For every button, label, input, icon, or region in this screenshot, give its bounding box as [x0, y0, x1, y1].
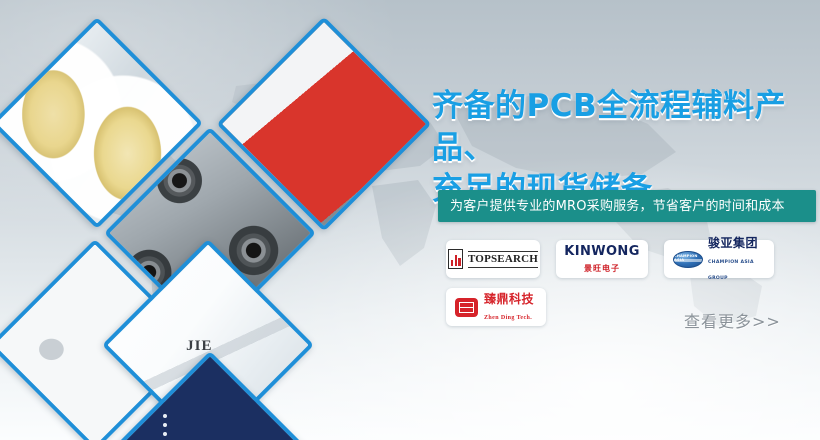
banner-subtitle-text: 为客户提供专业的MRO采购服务，节省客户的时间和成本 [438, 200, 785, 213]
view-more-link[interactable]: 查看更多>> [684, 314, 781, 330]
topsearch-wordmark: TOPSEARCH [468, 251, 538, 268]
partner-logo-zhen-ding[interactable]: 臻鼎科技 Zhen Ding Tech. [446, 288, 546, 326]
kinwong-cn-text: 景旺电子 [584, 264, 620, 273]
kinwong-en-text: KINWONG [564, 244, 640, 259]
champion-asia-cn-text: 骏亚集团 [708, 236, 758, 250]
champion-asia-en-text: CHAMPION ASIA GROUP [708, 260, 754, 281]
zhen-ding-cn-text: 臻鼎科技 [484, 292, 534, 306]
zhen-ding-en-text: Zhen Ding Tech. [484, 315, 532, 321]
globe-icon: CHAMPION ASIA [673, 251, 703, 268]
headline-line-1: 齐备的PCB全流程辅料产品、 [432, 86, 816, 169]
product-collage: JIE [0, 34, 390, 440]
zhen-ding-square-icon [455, 298, 478, 317]
panel-dots-icon [158, 409, 167, 436]
champion-asia-wordmark: 骏亚集团 CHAMPION ASIA GROUP [708, 235, 765, 283]
partner-logo-kinwong[interactable]: KINWONG 景旺电子 [556, 240, 648, 278]
globe-icon-text: CHAMPION ASIA [674, 252, 702, 267]
promo-banner: JIE 齐备的PCB全流程辅料产品、 充足的现货储备 为客户提供专业的MRO采购… [0, 0, 820, 440]
partner-logo-topsearch[interactable]: TOPSEARCH [446, 240, 540, 278]
partner-logo-champion-asia[interactable]: CHAMPION ASIA 骏亚集团 CHAMPION ASIA GROUP [664, 240, 774, 278]
partner-logo-row-1: TOPSEARCH KINWONG 景旺电子 CHAMPION ASIA 骏亚集… [446, 240, 808, 278]
kinwong-wordmark: KINWONG 景旺电子 [564, 243, 640, 275]
banner-subtitle-bar: 为客户提供专业的MRO采购服务，节省客户的时间和成本 [438, 190, 816, 222]
zhen-ding-wordmark: 臻鼎科技 Zhen Ding Tech. [484, 291, 537, 323]
topsearch-bar-chart-icon [448, 249, 463, 269]
